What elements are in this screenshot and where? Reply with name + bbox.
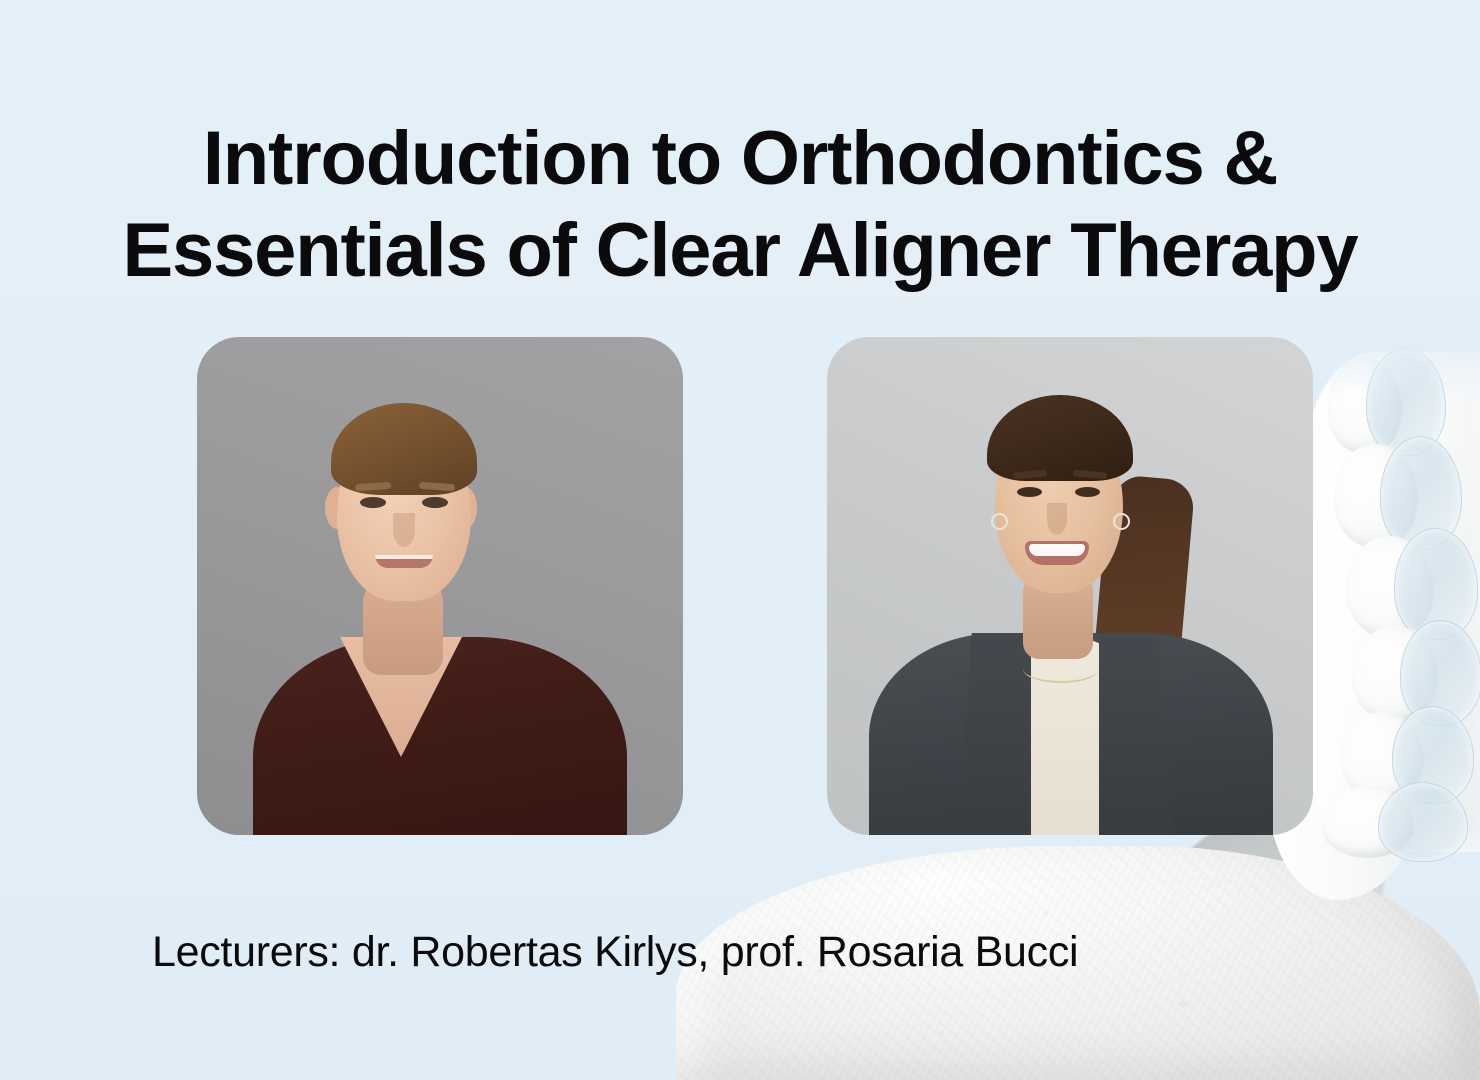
nose — [1047, 503, 1067, 535]
earring-left — [991, 513, 1008, 530]
lecturers-line: Lecturers: dr. Robertas Kirlys, prof. Ro… — [152, 928, 1078, 977]
eye-right — [422, 497, 448, 508]
earring-right — [1113, 513, 1130, 530]
hair — [987, 395, 1133, 481]
portrait-rosaria-bucci — [827, 337, 1313, 835]
mouth — [1025, 541, 1089, 565]
eye-right — [1075, 487, 1100, 497]
page-title: Introduction to Orthodontics & Essential… — [0, 113, 1480, 297]
necklace — [1023, 655, 1099, 683]
hair — [331, 403, 477, 495]
portrait-left-figure — [197, 337, 683, 835]
eye-left — [1017, 487, 1042, 497]
nose — [393, 513, 415, 547]
teeth — [1029, 544, 1085, 556]
portrait-right-figure — [827, 337, 1313, 835]
eye-left — [360, 497, 386, 508]
presentation-slide: Introduction to Orthodontics & Essential… — [0, 0, 1480, 1080]
portrait-robertas-kirlys — [197, 337, 683, 835]
mouth — [375, 555, 433, 568]
